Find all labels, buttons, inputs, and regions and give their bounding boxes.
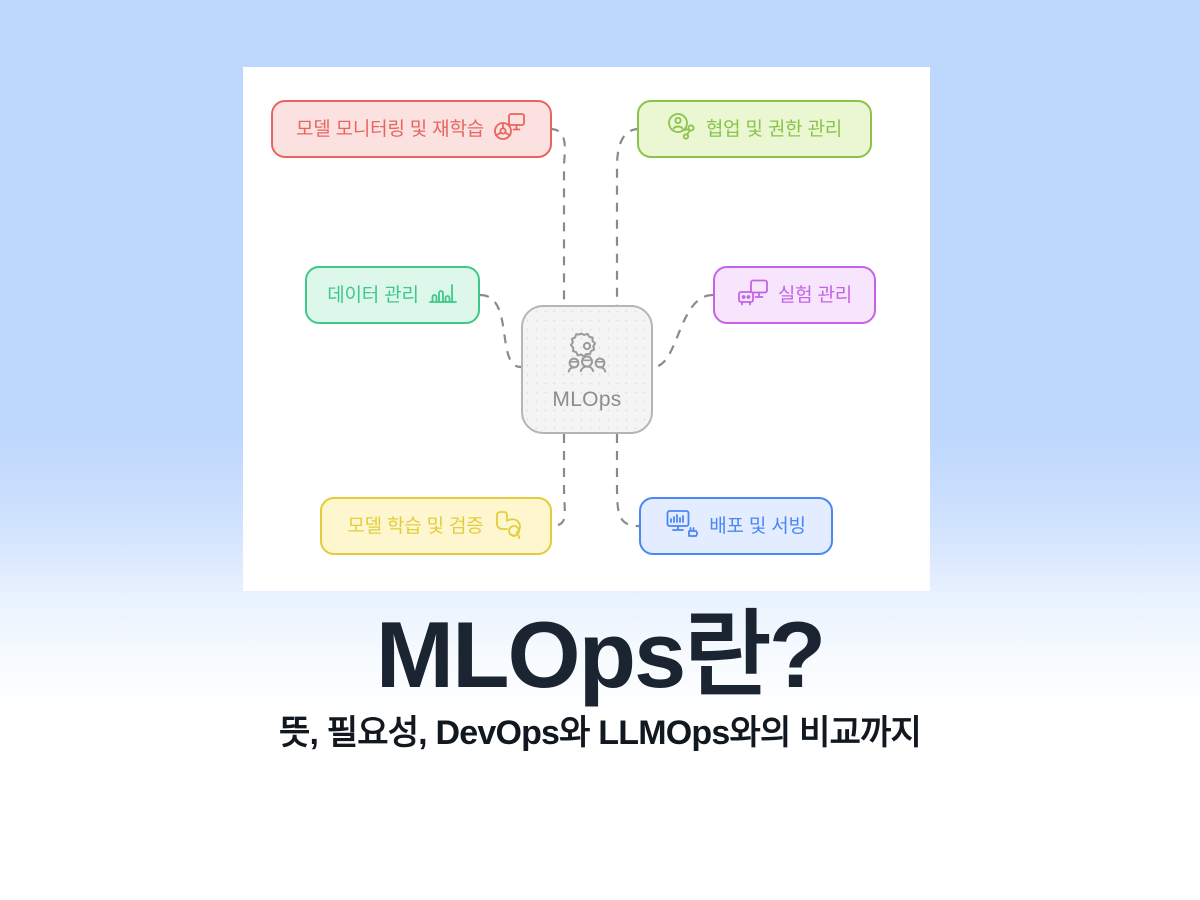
node-experiment-management-label: 실험 관리 [778,286,852,305]
diagram-card: 모델 모니터링 및 재학습 협업 및 권한 관리 [243,67,930,591]
node-center-mlops[interactable]: MLOps [521,305,653,434]
node-model-training[interactable]: 모델 학습 및 검증 [320,497,552,555]
node-deployment-serving-label: 배포 및 서빙 [709,517,806,536]
steering-wheel-monitor-icon [493,112,527,147]
connector-deployment-serving [617,434,639,526]
node-data-management-label: 데이터 관리 [327,286,418,305]
node-center-label: MLOps [552,389,621,410]
experiment-monitor-icon [737,279,769,312]
flexed-arm-icon [493,509,525,544]
node-data-management[interactable]: 데이터 관리 [305,266,480,324]
connector-collaboration-permissions [617,129,639,305]
node-model-monitoring[interactable]: 모델 모니터링 및 재학습 [271,100,552,158]
server-deploy-icon [666,509,700,544]
page-title: MLOps란? [0,602,1200,707]
connector-data-management [480,295,521,367]
gear-people-icon [559,330,615,383]
bar-chart-icon [428,280,458,311]
node-deployment-serving[interactable]: 배포 및 서빙 [639,497,833,555]
page-subtitle: 뜻, 필요성, DevOps와 LLMOps와의 비교까지 [0,713,1200,754]
title-block: MLOps란? 뜻, 필요성, DevOps와 LLMOps와의 비교까지 [0,602,1200,754]
node-experiment-management[interactable]: 실험 관리 [713,266,876,324]
node-collaboration-permissions-label: 협업 및 권한 관리 [706,120,842,139]
connector-model-monitoring [550,129,565,305]
node-model-training-label: 모델 학습 및 검증 [347,517,483,536]
node-model-monitoring-label: 모델 모니터링 및 재학습 [296,120,484,139]
user-network-icon [667,112,697,147]
connector-experiment-management [653,295,713,367]
connector-model-training [550,434,565,526]
node-collaboration-permissions[interactable]: 협업 및 권한 관리 [637,100,872,158]
